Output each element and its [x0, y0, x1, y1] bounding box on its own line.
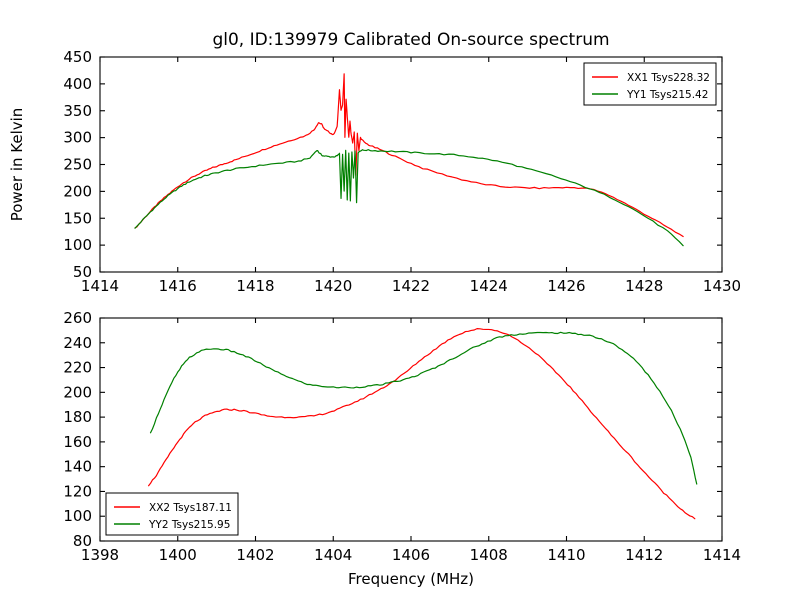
plot-title: gl0, ID:139979 Calibrated On-source spec…	[212, 30, 609, 50]
x-tick-label: 1424	[470, 277, 508, 295]
y-tick-label: 160	[63, 433, 92, 451]
y-tick-label: 140	[63, 458, 92, 476]
x-tick-label: 1418	[236, 277, 274, 295]
plot-panel-upper: 1414141614181420142214241426142814305010…	[63, 48, 741, 295]
y-tick-label: 240	[63, 334, 92, 352]
x-tick-label: 1412	[625, 546, 663, 564]
x-tick-label: 1422	[392, 277, 430, 295]
y-tick-label: 350	[63, 102, 92, 120]
y-tick-label: 260	[63, 309, 92, 327]
legend-label: YY2 Tsys215.95	[148, 519, 230, 531]
legend-label: XX1 Tsys228.32	[627, 72, 710, 84]
y-axis-label: Power in Kelvin	[8, 108, 26, 222]
y-tick-label: 120	[63, 482, 92, 500]
y-tick-label: 200	[63, 383, 92, 401]
y-tick-label: 100	[63, 507, 92, 525]
x-tick-label: 1416	[159, 277, 197, 295]
x-tick-label: 1402	[236, 546, 274, 564]
plot-panel-lower: 1398140014021404140614081410141214148010…	[63, 309, 741, 564]
x-axis-label: Frequency (MHz)	[348, 570, 474, 588]
y-tick-label: 180	[63, 408, 92, 426]
legend-upper[interactable]: XX1 Tsys228.32YY1 Tsys215.42	[584, 63, 716, 105]
y-tick-label: 100	[63, 236, 92, 254]
x-tick-label: 1400	[159, 546, 197, 564]
y-tick-label: 150	[63, 209, 92, 227]
y-tick-label: 50	[73, 263, 92, 281]
x-tick-label: 1404	[314, 546, 352, 564]
x-tick-label: 1428	[625, 277, 663, 295]
y-tick-label: 450	[63, 48, 92, 66]
series-line-yy2	[151, 332, 697, 484]
x-tick-label: 1420	[314, 277, 352, 295]
x-tick-label: 1430	[703, 277, 741, 295]
series-line-yy1	[135, 150, 683, 246]
y-tick-label: 80	[73, 532, 92, 550]
y-tick-label: 300	[63, 129, 92, 147]
x-tick-label: 1408	[470, 546, 508, 564]
x-tick-label: 1426	[547, 277, 585, 295]
x-tick-label: 1410	[547, 546, 585, 564]
figure-canvas: 1414141614181420142214241426142814305010…	[0, 0, 800, 600]
y-tick-label: 200	[63, 182, 92, 200]
y-tick-label: 220	[63, 359, 92, 377]
x-tick-label: 1414	[703, 546, 741, 564]
x-tick-label: 1406	[392, 546, 430, 564]
legend-lower[interactable]: XX2 Tsys187.11YY2 Tsys215.95	[106, 493, 238, 535]
y-tick-label: 250	[63, 156, 92, 174]
legend-label: XX2 Tsys187.11	[149, 502, 232, 514]
spectrum-figure: 1414141614181420142214241426142814305010…	[0, 0, 800, 600]
legend-label: YY1 Tsys215.42	[626, 89, 708, 101]
y-tick-label: 400	[63, 75, 92, 93]
series-line-xx2	[149, 329, 695, 519]
